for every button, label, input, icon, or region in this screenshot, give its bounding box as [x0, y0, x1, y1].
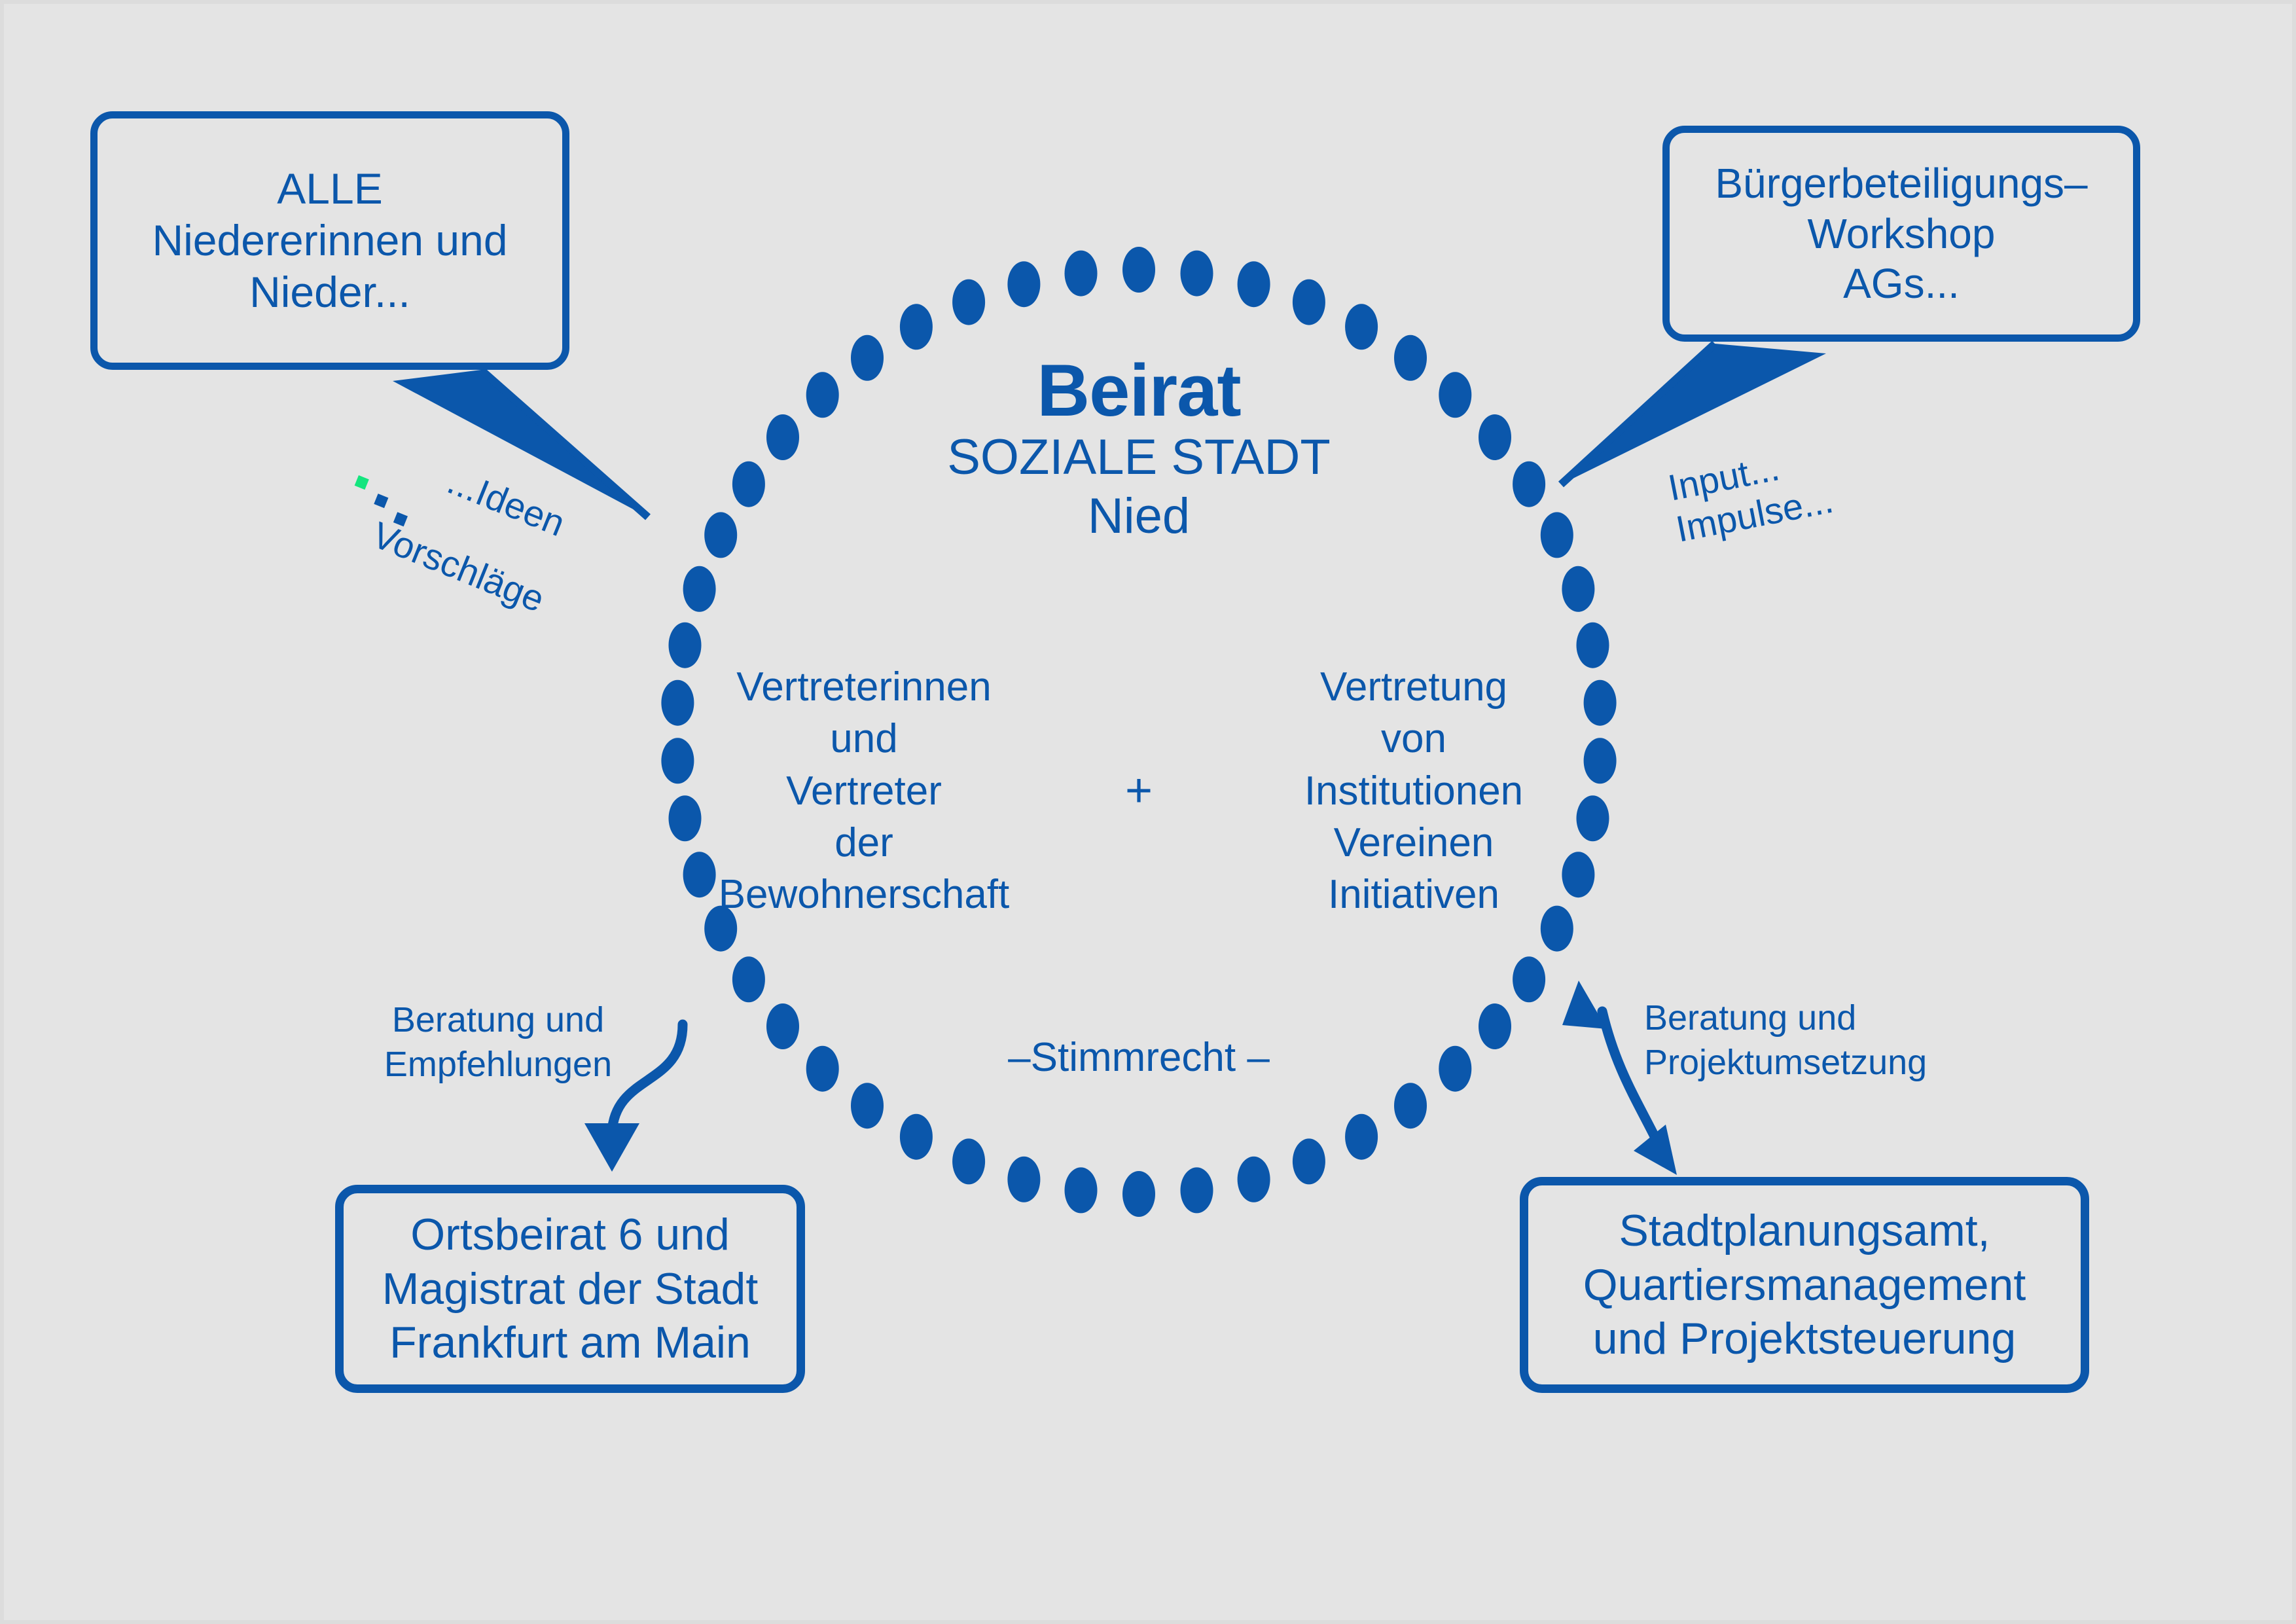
box-line-1: Ortsbeirat 6 und [382, 1208, 758, 1262]
circle-dot [1293, 280, 1325, 325]
circle-dot [1238, 1157, 1270, 1202]
box-line-1: Stadtplanungsamt, [1583, 1204, 2026, 1258]
box-stadtplanungsamt[interactable]: Stadtplanungsamt, Quartiersmanagement un… [1520, 1177, 2089, 1393]
box-line-3: und Projektsteuerung [1583, 1312, 2026, 1366]
column-line-4: Vereinen [1230, 817, 1597, 869]
circle-dot [1122, 247, 1155, 293]
circle-dot [1238, 261, 1270, 307]
bubble-line-1: ALLE [277, 164, 382, 213]
label-beratung-empfehlungen: Beratung und Empfehlungen [370, 998, 626, 1087]
circle-dot [1293, 1138, 1325, 1184]
circle-dot [1065, 1167, 1098, 1213]
column-line-1: Vertretung [1230, 661, 1597, 713]
bubble-line-2: Workshop [1808, 210, 1996, 257]
centre-heading-block: Beirat SOZIALE STADT Nied [681, 353, 1597, 546]
label-beratung-projektumsetzung: Beratung und Projektumsetzung [1644, 996, 1952, 1085]
bubble-line-1: Bürgerbeteiligungs– [1715, 160, 2087, 207]
circle-dot [1007, 261, 1040, 307]
arrow-head-up-left [1562, 981, 1607, 1029]
circle-dot [851, 1083, 884, 1128]
circle-dot [1181, 251, 1213, 297]
circle-dot [1122, 1171, 1155, 1217]
circle-dot [900, 1114, 933, 1160]
column-line-3: Institutionen [1230, 765, 1597, 817]
bubble-line-3: AGs... [1843, 260, 1960, 307]
column-institutions: Vertretung von Institutionen Vereinen In… [1230, 661, 1597, 921]
speech-bubble-participation[interactable]: Bürgerbeteiligungs– Workshop AGs... [1662, 126, 2140, 342]
box-ortsbeirat-magistrat[interactable]: Ortsbeirat 6 und Magistrat der Stadt Fra… [335, 1185, 805, 1393]
label-line-1: Beratung und [370, 998, 626, 1043]
box-line-3: Frankfurt am Main [382, 1316, 758, 1370]
box-line-2: Magistrat der Stadt [382, 1262, 758, 1316]
page-title: Beirat [681, 353, 1597, 428]
centre-subtitle-programme: SOZIALE STADT [681, 428, 1597, 487]
column-line-4: der [681, 817, 1047, 869]
circle-dot [1065, 251, 1098, 297]
column-line-2: von [1230, 713, 1597, 765]
voting-rights-note: –Stimmrecht – [681, 1034, 1597, 1081]
membership-columns: Vertreterinnen und Vertreter der Bewohne… [681, 661, 1597, 921]
circle-dot [1181, 1167, 1213, 1213]
label-line-2: Empfehlungen [370, 1043, 626, 1087]
circle-dot [952, 1138, 985, 1184]
circle-dot [952, 280, 985, 325]
column-line-5: Initiativen [1230, 869, 1597, 920]
label-line-1: Beratung und [1644, 996, 1952, 1041]
column-line-2: und [681, 713, 1047, 765]
circle-dot [1007, 1157, 1040, 1202]
circle-dot [1394, 1083, 1427, 1128]
circle-dot [1345, 1114, 1378, 1160]
arrow-beratung-empfehlungen-head [584, 1123, 639, 1172]
box-line-2: Quartiersmanagement [1583, 1258, 2026, 1312]
circle-dot [900, 304, 933, 350]
circle-dot [1345, 304, 1378, 350]
bubble-line-3: Nieder... [249, 268, 410, 316]
speech-bubble-residents[interactable]: ALLE Niedererinnen und Nieder... [90, 111, 569, 370]
diagram-canvas: ALLE Niedererinnen und Nieder... Bürgerb… [0, 0, 2296, 1624]
circle-dot [1562, 566, 1594, 612]
circle-dot [732, 956, 765, 1002]
column-line-5: Bewohnerschaft [681, 869, 1047, 920]
circle-dot [683, 566, 716, 612]
column-line-1: Vertreterinnen [681, 661, 1047, 713]
label-line-2: Projektumsetzung [1644, 1041, 1952, 1085]
bubble-line-2: Niedererinnen und [152, 216, 507, 264]
plus-operator: + [1103, 761, 1175, 821]
circle-dot [1513, 956, 1545, 1002]
centre-subtitle-district: Nied [681, 487, 1597, 546]
column-residents: Vertreterinnen und Vertreter der Bewohne… [681, 661, 1047, 921]
column-line-3: Vertreter [681, 765, 1047, 817]
